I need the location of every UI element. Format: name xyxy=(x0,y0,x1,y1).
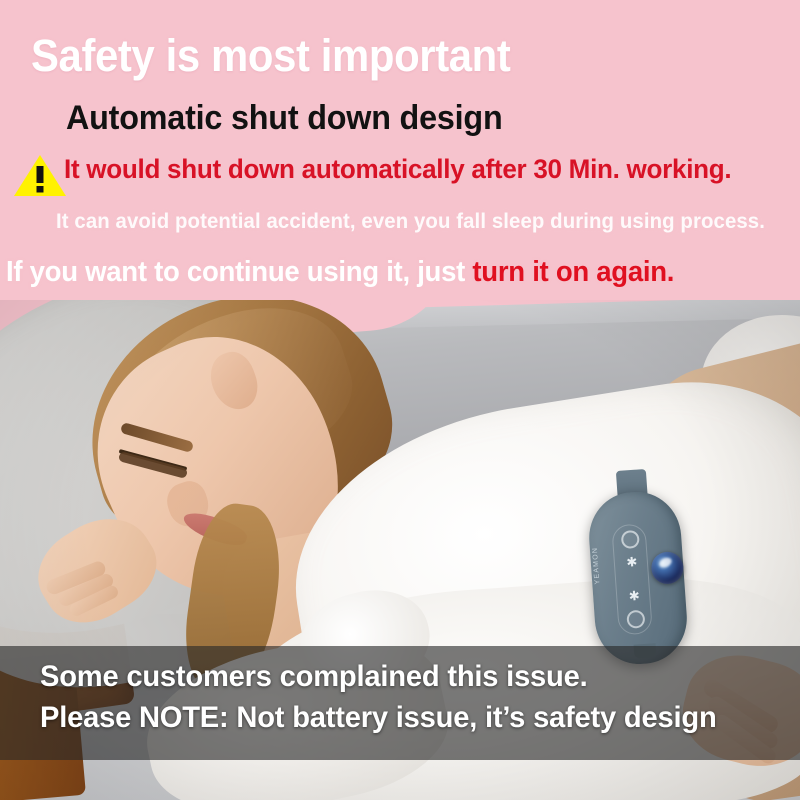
warning-triangle-icon xyxy=(13,153,67,197)
top-text-panel: Safety is most important Automatic shut … xyxy=(0,0,800,300)
continue-instruction-accent: turn it on again. xyxy=(472,256,674,288)
warning-text: It would shut down automatically after 3… xyxy=(64,156,731,183)
heat-waves-icon: ✱ xyxy=(623,554,640,571)
warning-row: It would shut down automatically after 3… xyxy=(0,152,800,196)
page-title: Safety is most important xyxy=(31,33,510,78)
supporting-note: It can avoid potential accident, even yo… xyxy=(56,211,765,232)
indicator-light-icon xyxy=(650,551,684,585)
continue-instruction: If you want to continue using it, just t… xyxy=(6,258,674,287)
heating-pad-device: ✱ ✱ YEAMON xyxy=(586,489,690,667)
bottom-overlay-band: Some customers complained this issue. Pl… xyxy=(0,646,800,760)
device-brand-label: YEAMON xyxy=(592,546,609,584)
section-subtitle: Automatic shut down design xyxy=(66,101,502,135)
continue-instruction-plain: If you want to continue using it, just xyxy=(6,256,472,288)
bottom-text-line-2: Please NOTE: Not battery issue, it’s saf… xyxy=(40,703,717,733)
bottom-text-line-1: Some customers complained this issue. xyxy=(40,662,588,692)
infographic-page: ✱ ✱ YEAMON Safety is most important Auto… xyxy=(0,0,800,800)
vibration-icon: ✱ xyxy=(626,588,643,605)
